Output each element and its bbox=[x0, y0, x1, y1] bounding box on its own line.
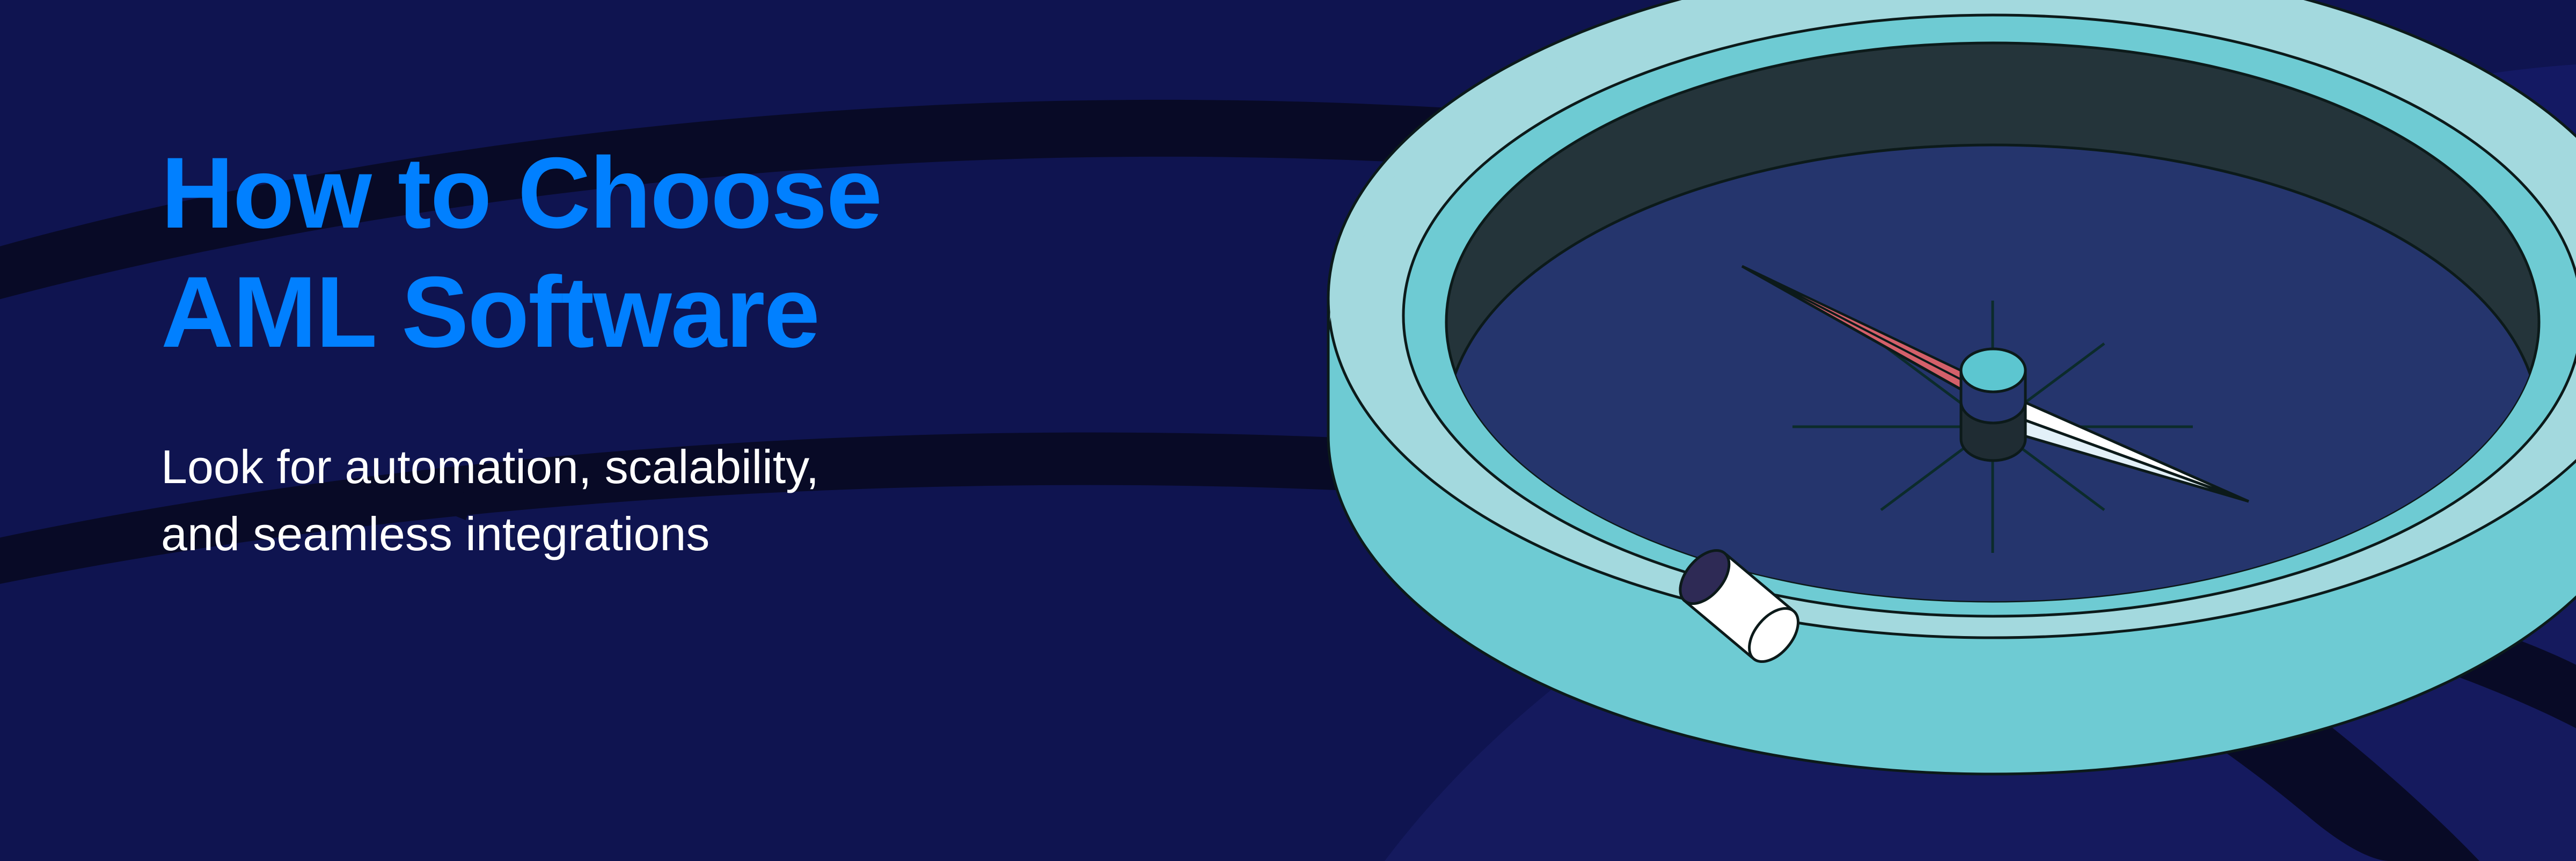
pivot-top-cap bbox=[1961, 349, 2025, 392]
page-title-line-2: AML Software bbox=[161, 253, 1395, 370]
page-title-line-1: How to Choose bbox=[161, 134, 1395, 251]
text-block: How to Choose AML Software Look for auto… bbox=[161, 134, 1395, 568]
subtitle-line-1: Look for automation, scalability, bbox=[161, 370, 1395, 501]
banner-root: How to Choose AML Software Look for auto… bbox=[0, 0, 2576, 861]
subtitle-line-2: and seamless integrations bbox=[161, 501, 1395, 568]
compass-pivot bbox=[1961, 349, 2025, 461]
